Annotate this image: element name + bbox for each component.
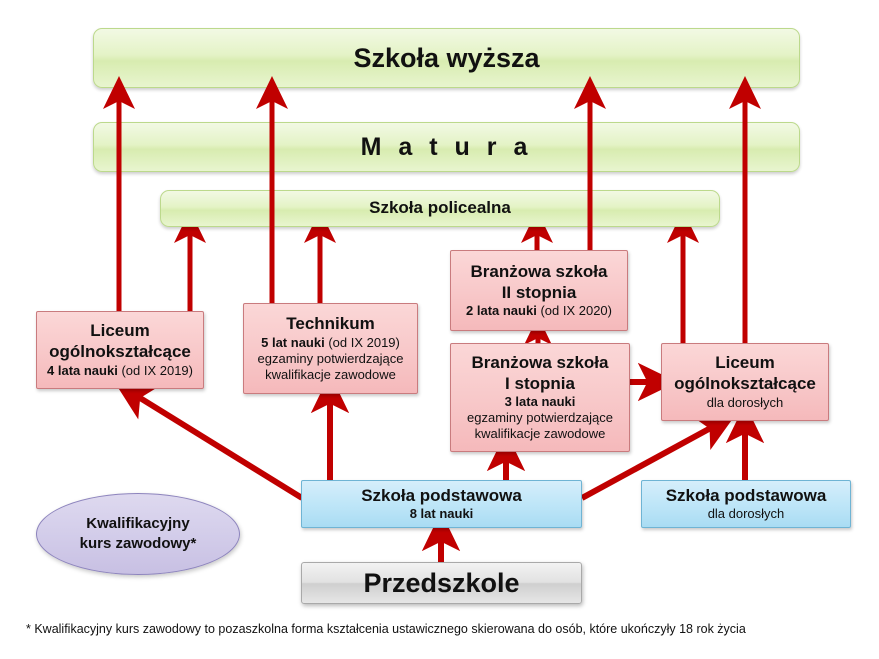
- node-liceum-dla-doroslych[interactable]: Liceum ogólnokształcące dla dorosłych: [661, 343, 829, 421]
- node-branzowa-szkola-ii[interactable]: Branżowa szkoła II stopnia 2 lata nauki …: [450, 250, 628, 331]
- node-branzowa-i-line3: 3 lata nauki: [505, 394, 576, 410]
- node-liceum-line1: Liceum: [90, 321, 150, 342]
- arrow-podstawowa-to-liceum: [132, 393, 302, 498]
- node-liceum-line3: 4 lata nauki (od IX 2019): [47, 363, 193, 379]
- education-system-diagram: Szkoła wyższa M a t u r a Szkoła policea…: [0, 0, 879, 659]
- node-kwalifikacyjny-kurs-zawodowy[interactable]: Kwalifikacyjny kurs zawodowy*: [36, 493, 240, 575]
- node-liceum-doroslych-line3: dla dorosłych: [707, 395, 784, 411]
- node-technikum-line3: egzaminy potwierdzające: [258, 351, 404, 367]
- node-matura-label: M a t u r a: [361, 132, 533, 163]
- node-szkola-policealna-label: Szkoła policealna: [369, 198, 511, 219]
- node-liceum-doroslych-line2: ogólnokształcące: [674, 374, 816, 395]
- node-technikum-line4: kwalifikacje zawodowe: [265, 367, 396, 383]
- node-liceum-line2: ogólnokształcące: [49, 342, 191, 363]
- node-przedszkole[interactable]: Przedszkole: [301, 562, 582, 604]
- node-szkola-podstawowa-doroslych-line1: Szkoła podstawowa: [666, 486, 827, 507]
- node-branzowa-ii-line3: 2 lata nauki (od IX 2020): [466, 303, 612, 319]
- node-branzowa-i-line1: Branżowa szkoła: [472, 353, 609, 374]
- node-branzowa-i-line4: egzaminy potwierdzające: [467, 410, 613, 426]
- footnote: * Kwalifikacyjny kurs zawodowy to pozasz…: [26, 622, 856, 636]
- node-szkola-podstawowa-doroslych-line2: dla dorosłych: [708, 506, 785, 522]
- node-szkola-podstawowa-line1: Szkoła podstawowa: [361, 486, 522, 507]
- node-branzowa-ii-line1: Branżowa szkoła: [471, 262, 608, 283]
- node-szkola-podstawowa-dla-doroslych[interactable]: Szkoła podstawowa dla dorosłych: [641, 480, 851, 528]
- node-technikum-line1: Technikum: [286, 314, 374, 335]
- node-szkola-wyzsza[interactable]: Szkoła wyższa: [93, 28, 800, 88]
- node-technikum-line2: 5 lat nauki (od IX 2019): [261, 335, 400, 351]
- node-branzowa-szkola-i[interactable]: Branżowa szkoła I stopnia 3 lata nauki e…: [450, 343, 630, 452]
- node-branzowa-i-line2: I stopnia: [505, 374, 575, 395]
- node-szkola-podstawowa-line2: 8 lat nauki: [410, 506, 474, 522]
- node-liceum[interactable]: Liceum ogólnokształcące 4 lata nauki (od…: [36, 311, 204, 389]
- node-kurs-line2: kurs zawodowy*: [80, 534, 197, 554]
- node-szkola-policealna[interactable]: Szkoła policealna: [160, 190, 720, 227]
- node-branzowa-i-line5: kwalifikacje zawodowe: [475, 426, 606, 442]
- node-przedszkole-label: Przedszkole: [363, 567, 519, 600]
- node-liceum-doroslych-line1: Liceum: [715, 353, 775, 374]
- node-branzowa-ii-line2: II stopnia: [502, 283, 577, 304]
- node-matura[interactable]: M a t u r a: [93, 122, 800, 172]
- node-szkola-wyzsza-label: Szkoła wyższa: [353, 42, 539, 75]
- node-szkola-podstawowa[interactable]: Szkoła podstawowa 8 lat nauki: [301, 480, 582, 528]
- node-technikum[interactable]: Technikum 5 lat nauki (od IX 2019) egzam…: [243, 303, 418, 394]
- node-kurs-line1: Kwalifikacyjny: [86, 514, 189, 534]
